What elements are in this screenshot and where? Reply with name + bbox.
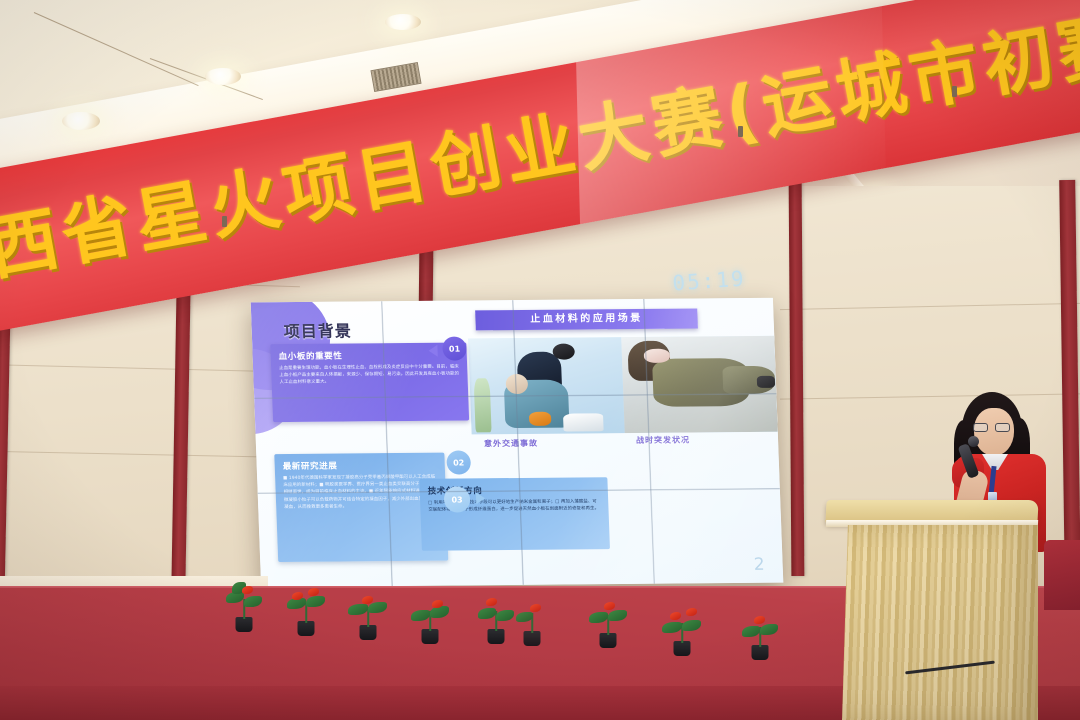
potted-plant — [410, 592, 450, 644]
plant-bloom — [670, 612, 681, 620]
photo-detail-orange — [529, 412, 552, 426]
plant-pot — [360, 625, 377, 640]
slide-ribbon-text: 止血材料的应用场景 — [475, 308, 698, 330]
triangle-left-icon — [433, 459, 442, 471]
figure-bandage — [644, 349, 671, 363]
plant-leaf — [430, 606, 449, 618]
card-heading: 最新研究进展 — [282, 459, 436, 472]
plant-leaf — [608, 610, 627, 621]
plant-leaf — [760, 624, 778, 635]
plant-bloom — [486, 598, 497, 606]
microphone-head — [968, 436, 979, 447]
step-marker-02: 02 — [446, 450, 471, 474]
potted-plant — [476, 592, 516, 644]
wall-seam — [0, 451, 290, 458]
wall-pilaster — [1059, 180, 1080, 580]
plant-pot — [236, 617, 253, 632]
plant-leaf — [742, 626, 760, 637]
step-marker-01: 01 — [442, 336, 467, 360]
plant-pot — [674, 641, 691, 656]
plant-leaf — [589, 612, 608, 623]
photo-caption-2: 战时突发状况 — [636, 434, 690, 445]
potted-plant — [224, 580, 264, 632]
plant-bloom — [530, 604, 541, 612]
glasses-icon — [973, 423, 1014, 432]
potted-plant — [740, 608, 780, 660]
plant-leaf — [478, 608, 496, 619]
triangle-left-icon — [428, 345, 437, 357]
wall-pilaster — [789, 176, 805, 576]
photo-scene: 项目背景 止血材料的应用场景 — [0, 0, 1080, 720]
plant-pot — [488, 629, 505, 644]
plant-bloom — [686, 608, 697, 616]
potted-plant — [348, 588, 388, 640]
plant-leaf — [682, 620, 701, 631]
downlight-icon — [62, 112, 100, 130]
plant-leaf — [411, 610, 430, 621]
wall-seam — [780, 303, 1080, 310]
plant-leaf — [244, 596, 262, 607]
slide-card-platelet-importance: 血小板的重要性 止血是重要生理功能，血小板在生理性止血、血栓形成及炎症反应中十分… — [270, 342, 469, 422]
triangle-right-icon — [476, 492, 485, 504]
banner-clip — [952, 86, 957, 97]
photo-detail-white — [563, 413, 604, 431]
figure-bystander — [474, 378, 492, 432]
plant-pot — [422, 629, 439, 644]
presenter-face — [974, 408, 1014, 456]
plant-pot — [298, 621, 315, 636]
plant-leaf — [368, 602, 387, 613]
photo-caption-1: 意外交通事故 — [484, 438, 538, 449]
banner-clip — [738, 126, 743, 137]
plant-bloom — [242, 586, 253, 594]
step-label: 01 — [449, 344, 460, 353]
glasses-lens — [995, 423, 1010, 432]
card-body: 止血是重要生理功能，血小板在生理性止血、血栓形成及炎症反应中十分重要。目前，临床… — [279, 364, 460, 387]
potted-plant — [286, 584, 326, 636]
plant-pot — [524, 631, 541, 646]
step-label: 03 — [451, 495, 462, 504]
plant-bloom — [604, 602, 615, 610]
photo-detail-dark — [552, 344, 575, 360]
plant-bloom — [308, 588, 319, 596]
figure-boot — [757, 376, 775, 388]
potted-plant — [588, 596, 628, 648]
chair — [1044, 540, 1080, 610]
plant-bloom — [754, 616, 765, 624]
video-wall-display[interactable]: 项目背景 止血材料的应用场景 — [251, 298, 784, 587]
slide-page-number: 2 — [753, 555, 765, 575]
downlight-icon — [385, 14, 421, 30]
step-label: 02 — [453, 458, 464, 467]
photo-traffic-accident — [468, 337, 625, 434]
plant-leaf — [306, 596, 325, 607]
plant-leaf — [662, 622, 682, 633]
potted-plant — [512, 594, 552, 646]
potted-plant — [662, 604, 702, 656]
digital-clock: 05:19 — [671, 263, 747, 298]
slide-title: 项目背景 — [283, 317, 352, 342]
downlight-icon — [205, 68, 241, 85]
plant-leaf — [348, 604, 368, 615]
glasses-lens — [973, 423, 988, 432]
banner-clip — [222, 216, 227, 227]
podium — [842, 525, 1038, 720]
plant-pot — [600, 633, 617, 648]
plant-pot — [752, 645, 769, 660]
slide-ribbon-heading: 止血材料的应用场景 — [475, 308, 698, 330]
